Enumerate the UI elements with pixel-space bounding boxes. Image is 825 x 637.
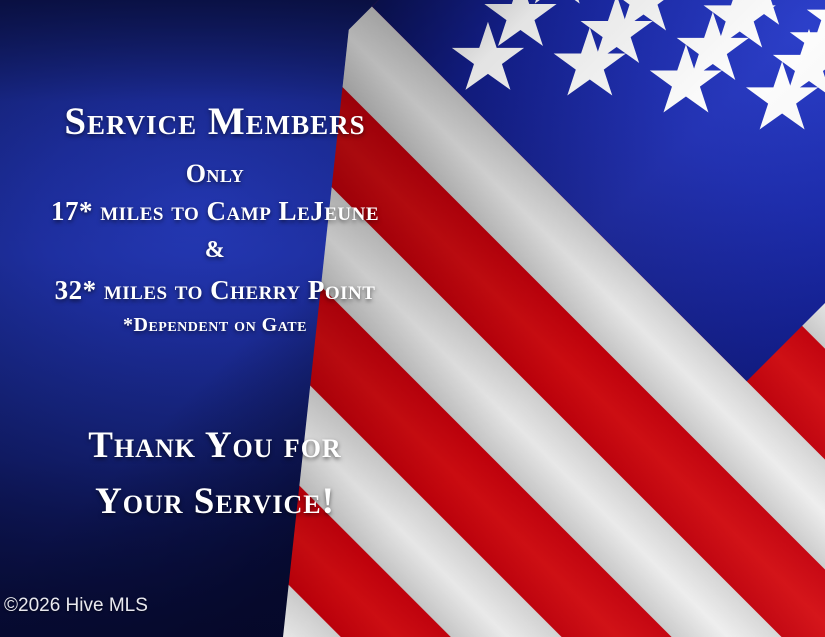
headline-service-members: Service Members	[0, 99, 430, 144]
thanks-line-two: Your Service!	[0, 480, 430, 523]
conjunction-ampersand: &	[0, 237, 430, 264]
distance-line-camp-lejeune: 17* miles to Camp LeJeune	[0, 196, 430, 227]
subhead-only: Only	[0, 159, 430, 189]
footnote-dependent-on-gate: *Dependent on Gate	[0, 314, 430, 337]
thanks-line-one: Thank You for	[0, 424, 430, 467]
promo-graphic-canvas: Service Members Only 17* miles to Camp L…	[0, 0, 825, 637]
distance-line-cherry-point: 32* miles to Cherry Point	[0, 275, 430, 306]
copyright-watermark: ©2026 Hive MLS	[4, 595, 148, 617]
